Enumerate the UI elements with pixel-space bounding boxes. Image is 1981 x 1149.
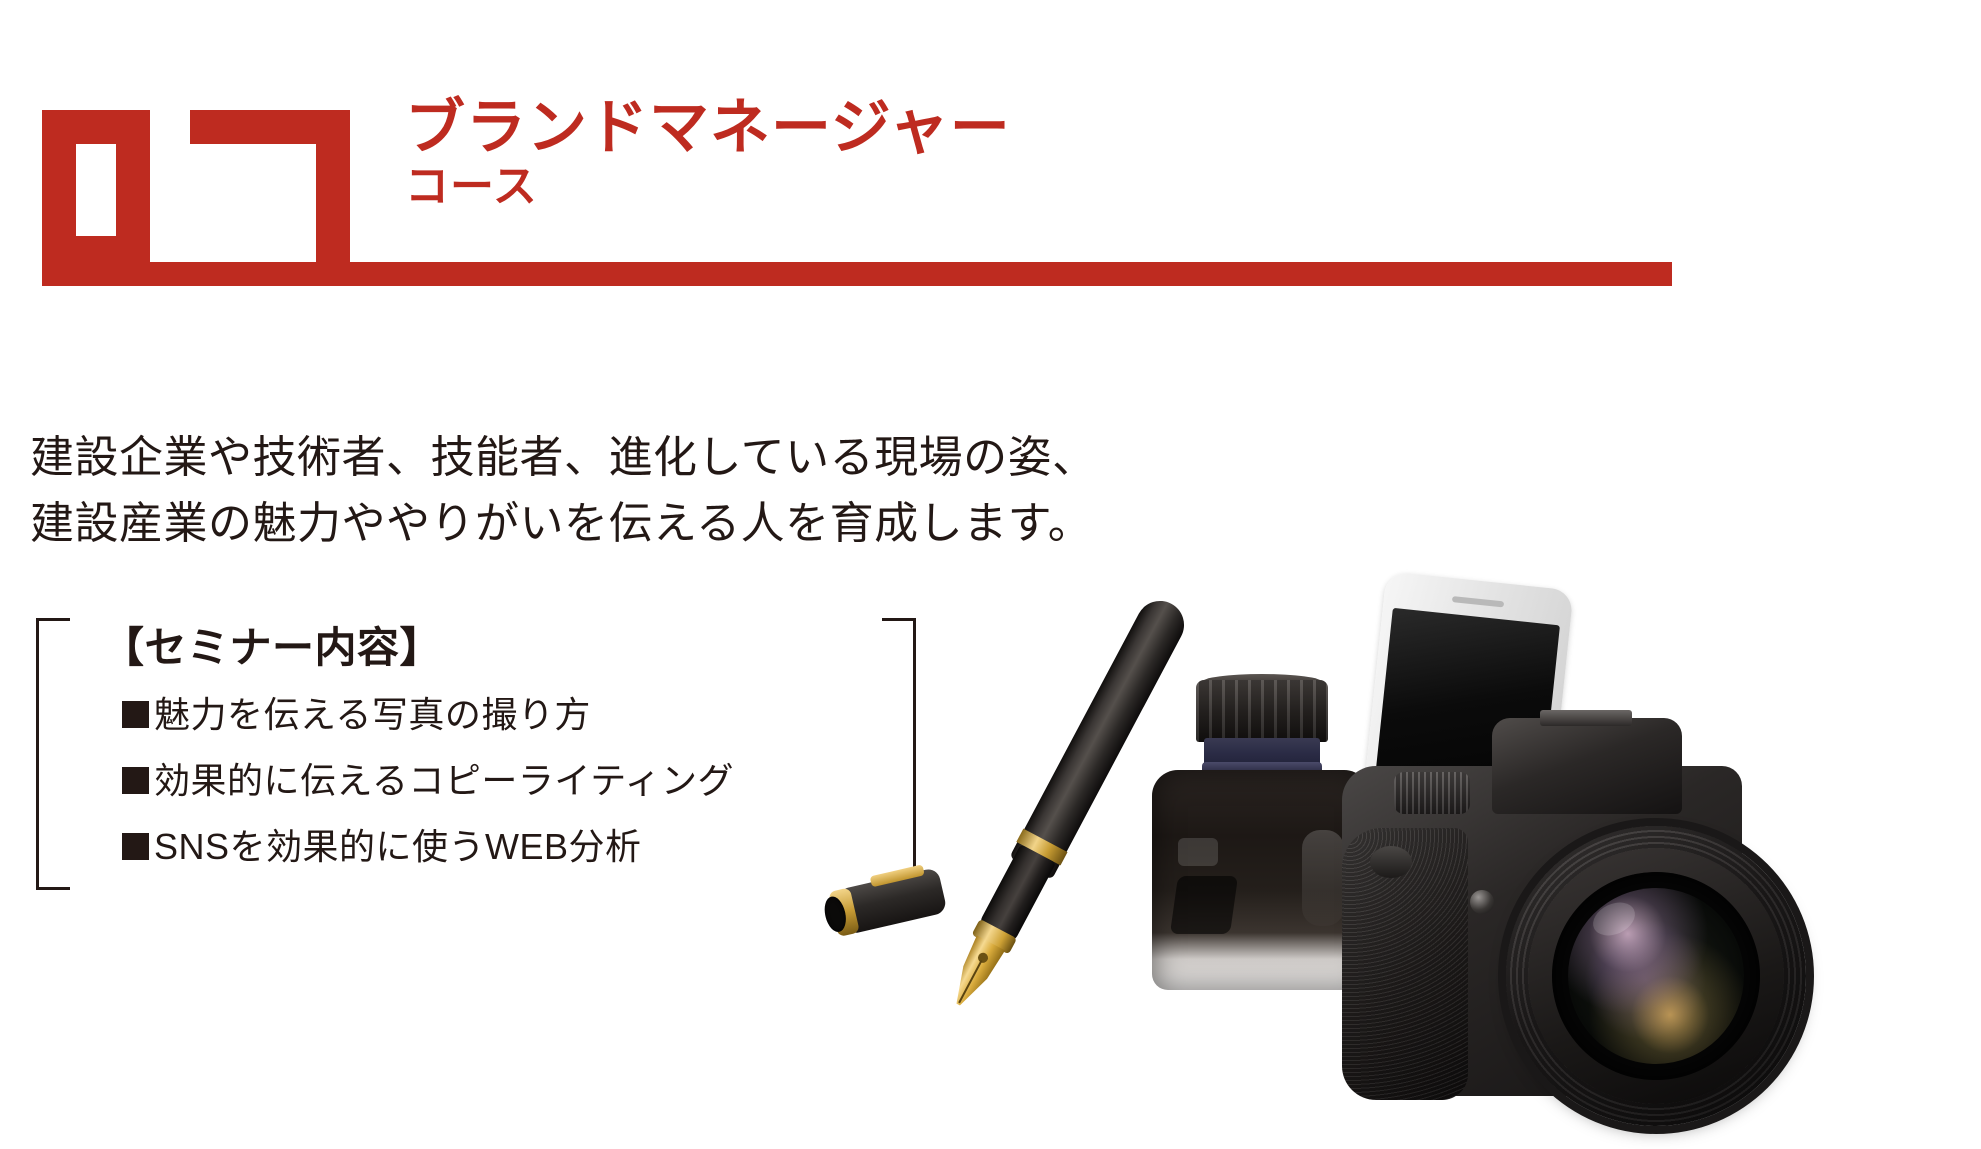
header-block: ブランドマネージャー コース bbox=[0, 0, 1981, 300]
square-bullet-icon bbox=[122, 701, 149, 728]
ink-bottle-highlight-right bbox=[1302, 830, 1344, 926]
ink-bottle-highlight-top bbox=[1178, 838, 1218, 866]
lead-line-2: 建設産業の魅力ややりがいを伝える人を育成します。 bbox=[30, 491, 1330, 557]
list-item: 魅力を伝える写真の撮り方 bbox=[122, 682, 734, 748]
ink-bottle-shadow-patch bbox=[1170, 876, 1238, 934]
ink-bottle-cap bbox=[1196, 680, 1328, 742]
title-group: ブランドマネージャー コース bbox=[405, 96, 1605, 211]
section-number-digit-zero bbox=[42, 110, 150, 270]
camera-hot-shoe bbox=[1540, 710, 1632, 726]
fountain-pen-cap-image bbox=[820, 867, 947, 939]
camera-lens-glass bbox=[1568, 888, 1744, 1064]
camera-pentaprism bbox=[1492, 718, 1682, 814]
list-item-label: 魅力を伝える写真の撮り方 bbox=[154, 694, 591, 735]
page-title: ブランドマネージャー bbox=[405, 96, 1605, 160]
lead-line-1: 建設企業や技術者、技能者、進化している現場の姿、 bbox=[30, 425, 1330, 491]
seminar-heading: 【セミナー内容】 bbox=[102, 614, 442, 675]
photo-composition bbox=[770, 570, 1981, 1149]
list-item: 効果的に伝えるコピーライティング bbox=[122, 748, 734, 814]
section-number-digit-seven-stem bbox=[316, 110, 350, 270]
square-bullet-icon bbox=[122, 767, 149, 794]
page-subtitle: コース bbox=[405, 162, 1605, 211]
camera-lens-release-button bbox=[1470, 890, 1494, 914]
lead-paragraph: 建設企業や技術者、技能者、進化している現場の姿、 建設産業の魅力ややりがいを伝え… bbox=[30, 425, 1330, 557]
list-item-label: SNSを効果的に使うWEB分析 bbox=[154, 826, 642, 867]
ink-bottle-image bbox=[1152, 680, 1370, 990]
camera-mode-dial bbox=[1394, 772, 1470, 814]
slide-page: ブランドマネージャー コース 建設企業や技術者、技能者、進化している現場の姿、 … bbox=[0, 0, 1981, 1149]
header-accent-bar bbox=[42, 262, 1672, 286]
list-item-label: 効果的に伝えるコピーライティング bbox=[154, 760, 734, 801]
seminar-item-list: 魅力を伝える写真の撮り方 効果的に伝えるコピーライティング SNSを効果的に使う… bbox=[122, 682, 734, 880]
camera-shutter-button bbox=[1370, 846, 1412, 878]
dslr-camera-image bbox=[1342, 718, 1972, 1148]
square-bullet-icon bbox=[122, 833, 149, 860]
bracket-left bbox=[36, 618, 70, 890]
list-item: SNSを効果的に使うWEB分析 bbox=[122, 814, 734, 880]
